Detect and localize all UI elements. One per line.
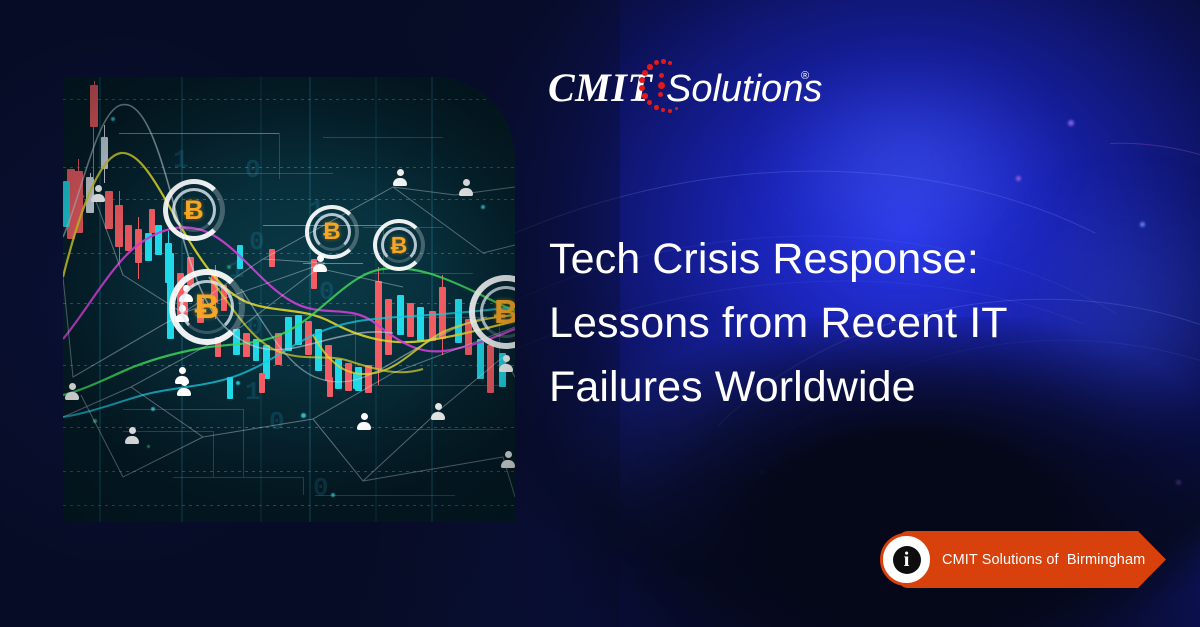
info-icon-glyph: i bbox=[893, 546, 921, 574]
user-node-icon bbox=[499, 355, 513, 372]
cmit-solutions-logo[interactable]: CMIT Solutions ® bbox=[548, 62, 818, 114]
user-node-icon bbox=[175, 367, 189, 384]
bitcoin-coin-icon: Ƀ bbox=[373, 219, 425, 271]
trend-lines bbox=[63, 77, 515, 522]
bitcoin-coin-icon: Ƀ bbox=[163, 179, 225, 241]
badge-label: CMIT Solutions of Birmingham bbox=[942, 531, 1145, 588]
promo-banner: 1 0 0 0 1 0 1 0 1 0 bbox=[0, 0, 1200, 627]
page-title: Tech Crisis Response: Lessons from Recen… bbox=[549, 227, 1069, 419]
bitcoin-coin-icon: Ƀ bbox=[469, 275, 515, 349]
bitcoin-coin-icon: Ƀ bbox=[169, 269, 245, 345]
user-node-icon bbox=[125, 427, 139, 444]
user-node-icon bbox=[91, 185, 105, 202]
bitcoin-coin-icon: Ƀ bbox=[305, 205, 359, 259]
user-node-icon bbox=[431, 403, 445, 420]
info-icon: i bbox=[880, 533, 933, 586]
user-node-icon bbox=[357, 413, 371, 430]
user-node-icon bbox=[501, 451, 515, 468]
user-node-icon bbox=[65, 383, 79, 400]
user-node-icon bbox=[393, 169, 407, 186]
crypto-trading-chart-image: 1 0 0 0 1 0 1 0 1 0 bbox=[63, 77, 515, 522]
logo-registered-mark: ® bbox=[801, 70, 809, 82]
logo-text-solutions: Solutions bbox=[666, 68, 822, 110]
user-node-icon bbox=[459, 179, 473, 196]
